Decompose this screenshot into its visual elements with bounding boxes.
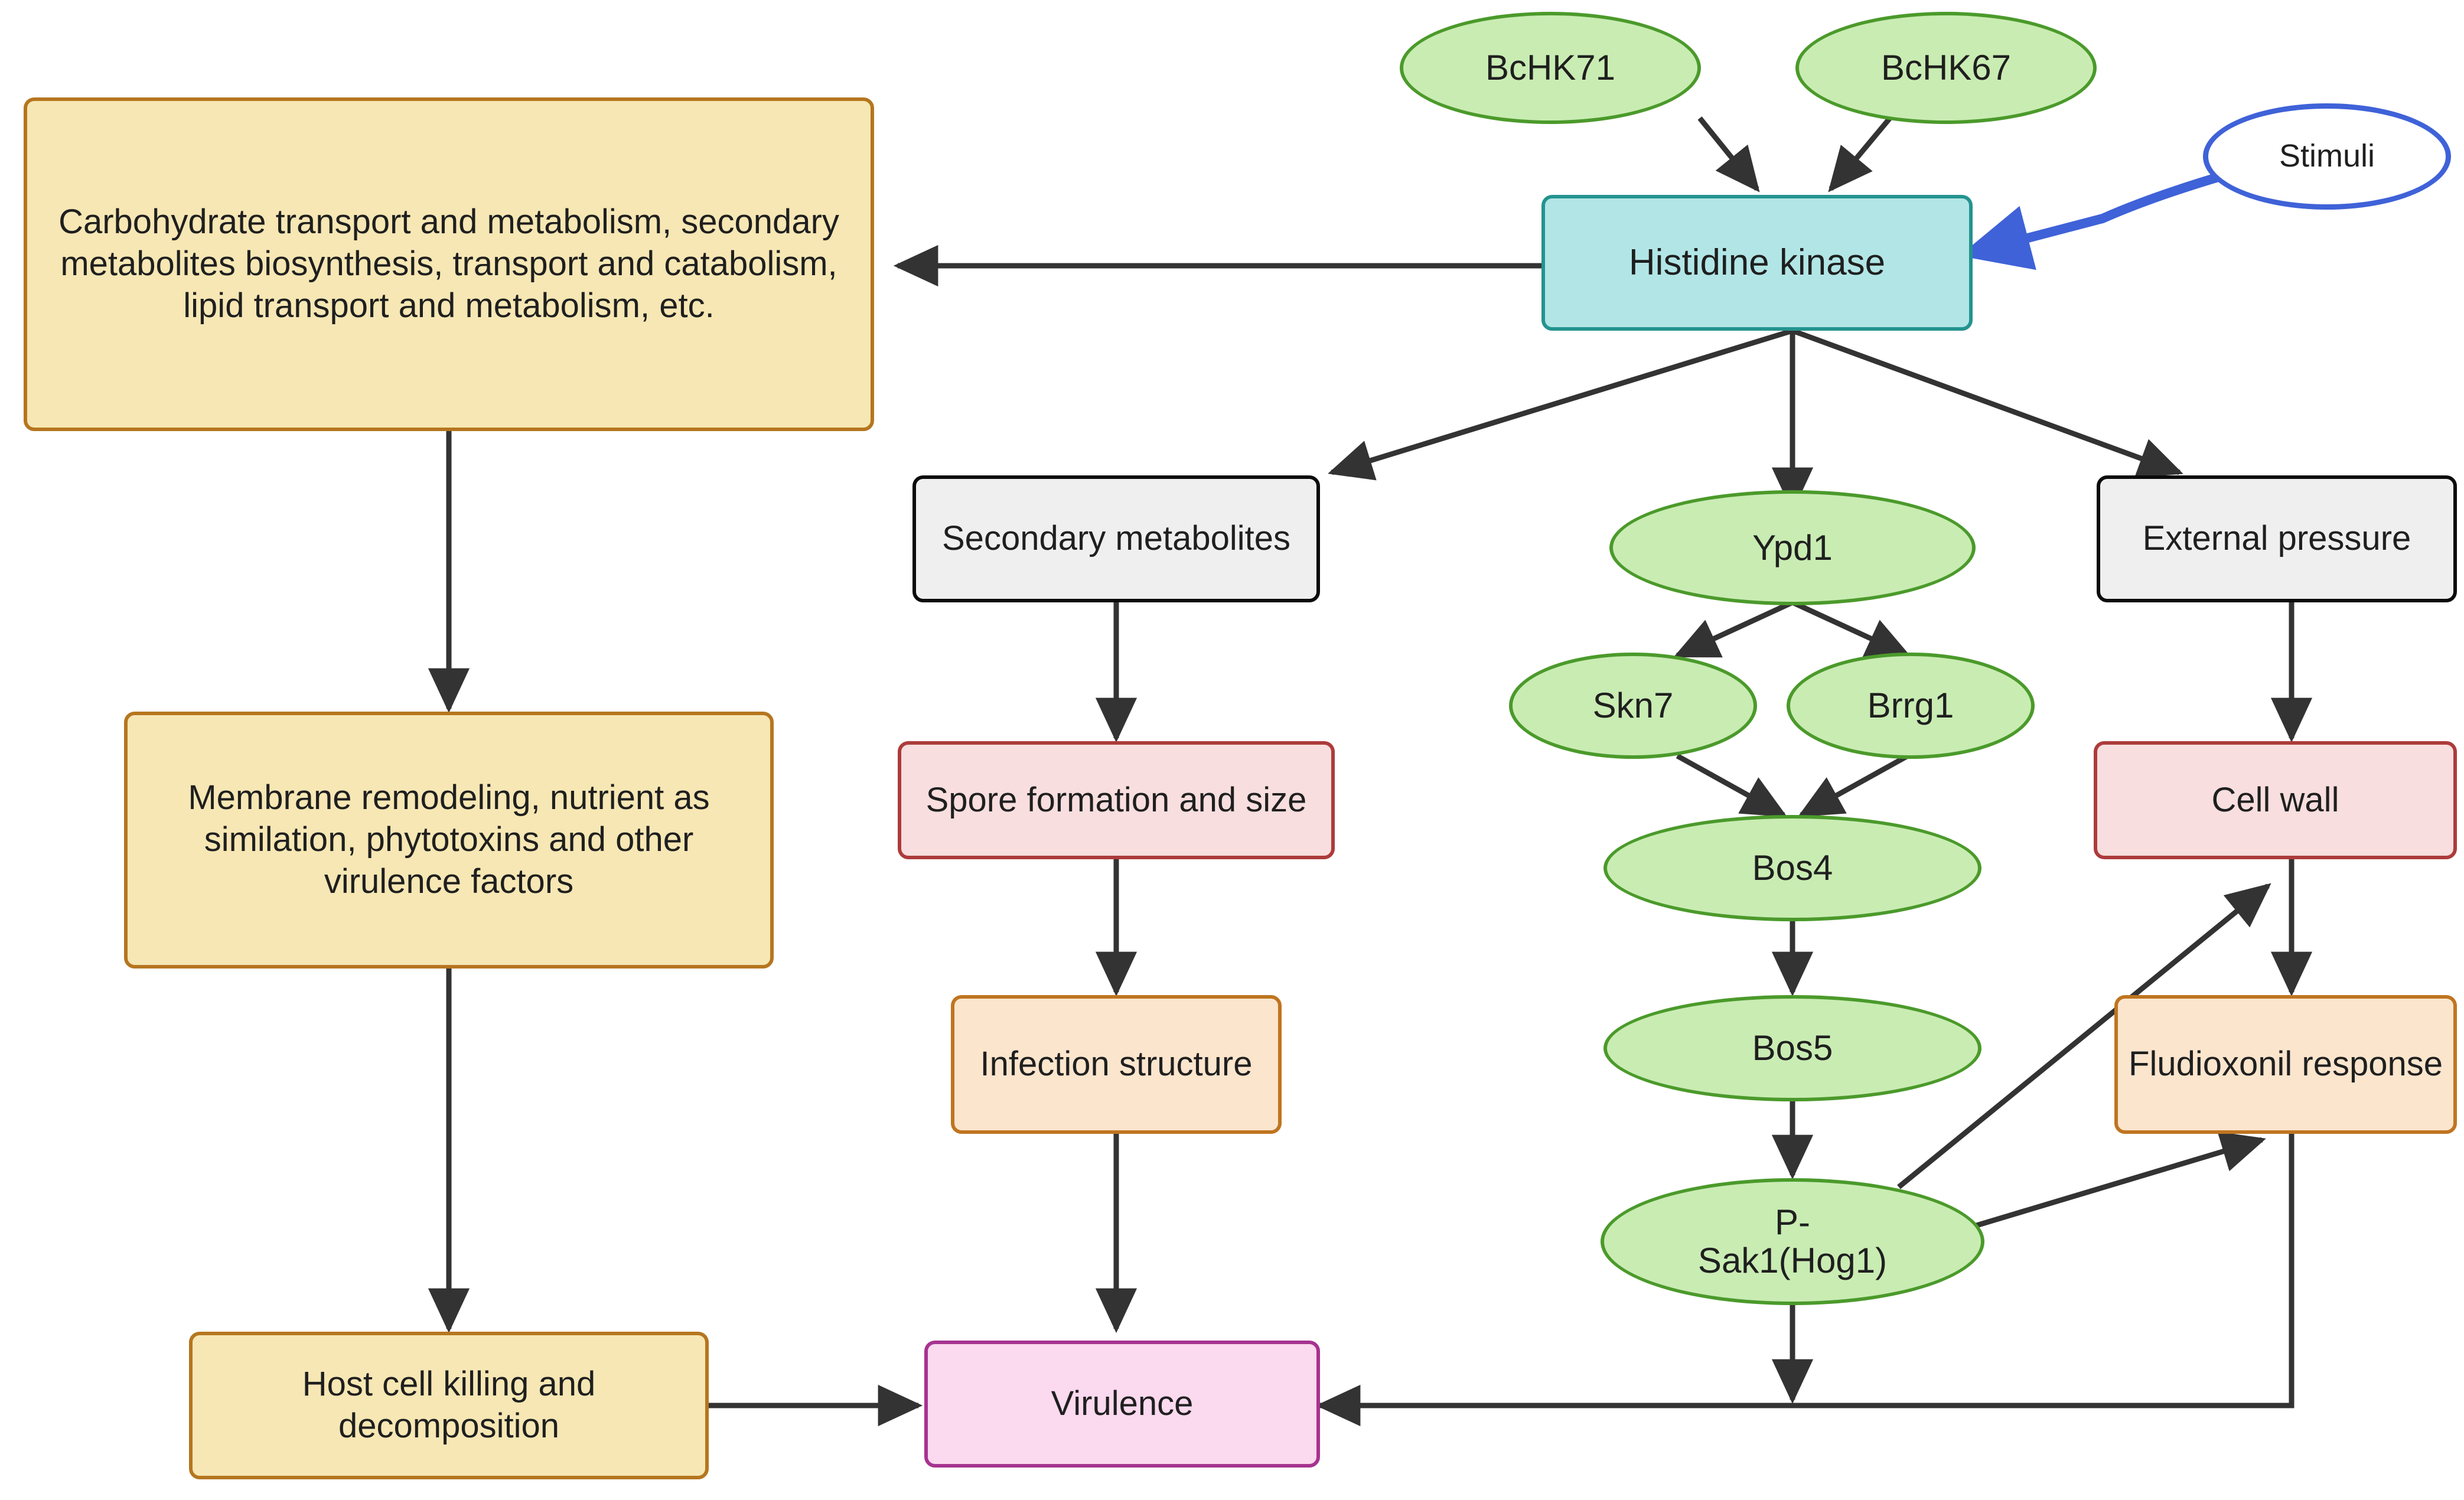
node-stimuli-label: Stimuli: [2279, 137, 2375, 176]
edge-skn7-bos4: [1677, 756, 1784, 815]
node-virulence[interactable]: Virulence: [924, 1341, 1320, 1468]
diagram-canvas: BcHK71 BcHK67 Stimuli Histidine kinase C…: [0, 0, 2464, 1500]
node-bos5[interactable]: Bos5: [1603, 995, 1981, 1101]
node-brrg1[interactable]: Brrg1: [1787, 653, 2035, 759]
node-bos4[interactable]: Bos4: [1603, 815, 1981, 921]
node-brrg1-label: Brrg1: [1867, 684, 1954, 727]
node-cell-wall[interactable]: Cell wall: [2094, 741, 2457, 859]
node-cell-wall-label: Cell wall: [2212, 780, 2339, 821]
node-carbohydrate-label: Carbohydrate transport and metabolism, s…: [47, 201, 850, 327]
node-secondary-metabolites[interactable]: Secondary metabolites: [912, 475, 1320, 602]
edge-ypd1-skn7: [1677, 602, 1792, 656]
edge-bchk71-histidine-kinase: [1700, 118, 1757, 189]
node-fludioxonil-response[interactable]: Fludioxonil response: [2114, 995, 2457, 1134]
edge-histidine-kinase-secondary-metabolites: [1332, 331, 1792, 472]
node-host-cell-killing[interactable]: Host cell killing and decomposition: [189, 1332, 709, 1479]
node-membrane-remodeling-label: Membrane remodeling, nutrient as similat…: [145, 777, 752, 902]
node-carbohydrate[interactable]: Carbohydrate transport and metabolism, s…: [24, 97, 874, 431]
node-histidine-kinase-label: Histidine kinase: [1629, 240, 1885, 285]
node-bchk67-label: BcHK67: [1881, 46, 2011, 89]
node-membrane-remodeling[interactable]: Membrane remodeling, nutrient as similat…: [124, 712, 774, 969]
edge-histidine-kinase-external-pressure: [1792, 331, 2179, 472]
node-external-pressure[interactable]: External pressure: [2097, 475, 2457, 602]
node-skn7[interactable]: Skn7: [1509, 653, 1757, 759]
node-bos4-label: Bos4: [1752, 846, 1833, 889]
node-histidine-kinase[interactable]: Histidine kinase: [1541, 195, 1973, 331]
edge-stimuli-histidine-kinase: [1967, 171, 2238, 254]
node-skn7-label: Skn7: [1593, 684, 1674, 727]
node-host-cell-killing-label: Host cell killing and decomposition: [207, 1364, 691, 1447]
node-bchk67[interactable]: BcHK67: [1795, 12, 2097, 124]
node-secondary-metabolites-label: Secondary metabolites: [942, 518, 1290, 560]
node-spore-formation[interactable]: Spore formation and size: [898, 741, 1335, 859]
node-spore-formation-label: Spore formation and size: [926, 780, 1307, 821]
node-external-pressure-label: External pressure: [2143, 518, 2411, 560]
edge-ypd1-brrg1: [1792, 602, 1908, 656]
node-infection-structure[interactable]: Infection structure: [951, 995, 1282, 1134]
node-p-sak1-hog1-label: P-Sak1(Hog1): [1695, 1204, 1890, 1280]
node-infection-structure-label: Infection structure: [980, 1044, 1253, 1085]
node-bchk71-label: BcHK71: [1485, 46, 1615, 89]
node-fludioxonil-response-label: Fludioxonil response: [2129, 1044, 2443, 1085]
node-ypd1-label: Ypd1: [1752, 526, 1833, 569]
node-bos5-label: Bos5: [1752, 1026, 1833, 1069]
edge-bchk67-histidine-kinase: [1831, 118, 1890, 189]
edge-brrg1-bos4: [1801, 756, 1908, 815]
node-bchk71[interactable]: BcHK71: [1400, 12, 1701, 124]
node-ypd1[interactable]: Ypd1: [1609, 490, 1976, 605]
node-p-sak1-hog1[interactable]: P-Sak1(Hog1): [1601, 1178, 1984, 1305]
node-stimuli[interactable]: Stimuli: [2203, 103, 2451, 210]
node-virulence-label: Virulence: [1051, 1383, 1194, 1425]
